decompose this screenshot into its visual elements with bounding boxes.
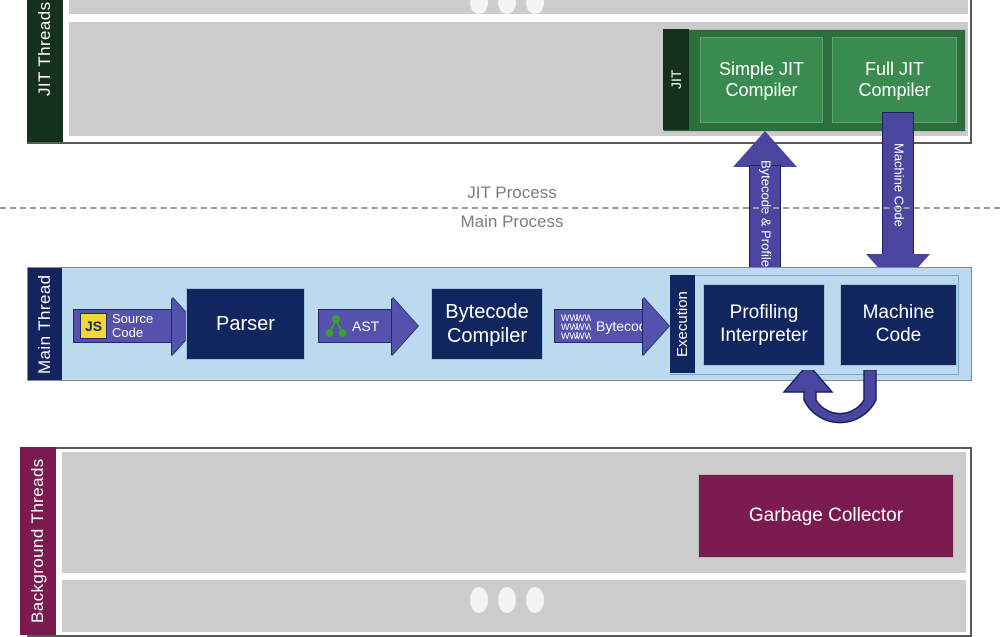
svg-text:WW: WW bbox=[576, 331, 591, 339]
jit-group-label: JIT bbox=[663, 29, 689, 130]
jit-process-label: JIT Process bbox=[392, 183, 632, 203]
profiling-interpreter-box[interactable]: Profiling Interpreter bbox=[703, 284, 825, 366]
js-icon: JS bbox=[80, 313, 107, 339]
full-jit-compiler-line2: Compiler bbox=[858, 80, 930, 101]
machine-code-arrow-shaft: Machine Code bbox=[882, 112, 914, 257]
bailout-arrow-label: Bailout bbox=[790, 422, 880, 437]
main-thread-lane-label-text: Main Thread bbox=[35, 274, 55, 374]
diagram-canvas: JIT Threads JIT Simple JIT Compiler Full… bbox=[0, 0, 1000, 605]
ast-arrow-label: AST bbox=[352, 318, 379, 334]
background-threads-lane-label-text: Background Threads bbox=[28, 459, 48, 624]
garbage-collector-label: Garbage Collector bbox=[749, 505, 903, 527]
ast-arrow: AST bbox=[318, 297, 418, 355]
ast-arrow-shaft: AST bbox=[318, 309, 393, 343]
machine-code-arrow: Machine Code bbox=[866, 112, 930, 290]
simple-jit-compiler-line1: Simple JIT bbox=[719, 59, 804, 80]
garbage-collector-box[interactable]: Garbage Collector bbox=[698, 474, 954, 558]
bytecode-compiler-line2: Compiler bbox=[445, 324, 528, 348]
parser-label: Parser bbox=[216, 312, 275, 336]
machine-code-line2: Code bbox=[863, 325, 935, 348]
background-threads-ellipsis-icon bbox=[470, 587, 546, 613]
ast-arrow-head bbox=[392, 297, 418, 355]
simple-jit-compiler-box[interactable]: Simple JIT Compiler bbox=[700, 37, 823, 123]
machine-code-box[interactable]: Machine Code bbox=[840, 284, 957, 366]
background-threads-lane-label: Background Threads bbox=[20, 447, 56, 635]
execution-group-label: Execution bbox=[670, 275, 695, 373]
machine-code-arrow-label: Machine Code bbox=[891, 143, 906, 227]
process-divider-line bbox=[0, 207, 1000, 209]
bytecode-compiler-line1: Bytecode bbox=[445, 300, 528, 324]
bytecode-arrow: WWWW WWWW WWWW Bytecode bbox=[554, 297, 669, 355]
main-thread-lane-label: Main Thread bbox=[28, 268, 62, 380]
bytecode-arrow-shaft: WWWW WWWW WWWW Bytecode bbox=[554, 309, 644, 343]
source-code-arrow: JS Source Code bbox=[73, 297, 198, 355]
main-process-label: Main Process bbox=[392, 212, 632, 232]
profiling-interpreter-line1: Profiling bbox=[720, 302, 808, 325]
jit-threads-lane-label-text: JIT Threads bbox=[35, 2, 55, 96]
bytecode-grid-icon: WWWW WWWW WWWW bbox=[561, 313, 591, 339]
source-code-arrow-shaft: JS Source Code bbox=[73, 309, 173, 343]
full-jit-compiler-box[interactable]: Full JIT Compiler bbox=[832, 37, 957, 123]
parser-box[interactable]: Parser bbox=[186, 288, 305, 360]
ast-tree-icon bbox=[325, 313, 347, 339]
execution-group-label-text: Execution bbox=[670, 275, 695, 373]
bytecode-compiler-box[interactable]: Bytecode Compiler bbox=[431, 288, 543, 360]
profiling-interpreter-line2: Interpreter bbox=[720, 325, 808, 348]
full-jit-compiler-line1: Full JIT bbox=[858, 59, 930, 80]
bytecode-arrow-head bbox=[643, 297, 669, 355]
machine-code-line1: Machine bbox=[863, 302, 935, 325]
simple-jit-compiler-line2: Compiler bbox=[719, 80, 804, 101]
jit-threads-lane-label: JIT Threads bbox=[27, 0, 63, 142]
jit-threads-ellipsis-icon bbox=[470, 0, 546, 16]
jit-group-label-text: JIT bbox=[663, 29, 689, 130]
source-code-arrow-label: Source Code bbox=[112, 312, 153, 339]
